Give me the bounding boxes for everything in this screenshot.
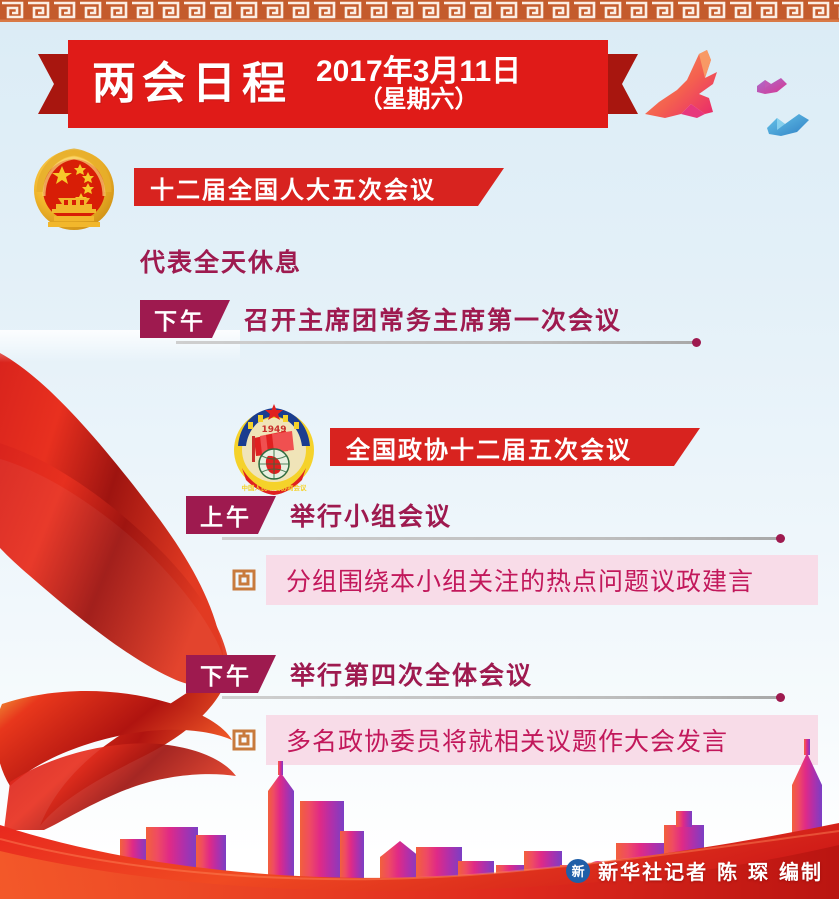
header-date: 2017年3月11日 <box>316 56 521 88</box>
schedule-row-npc-afternoon: 下午 召开主席团常务主席第一次会议 <box>140 300 700 340</box>
meander-pattern-icon <box>0 0 839 22</box>
bird-medium-blue-icon <box>767 114 809 136</box>
row-rule-dot-npc <box>692 338 701 347</box>
npc-note-rest: 代表全天休息 <box>140 243 302 279</box>
schedule-text-cppcc-afternoon: 举行第四次全体会议 <box>290 656 533 692</box>
row-rule-dot-cppcc-afternoon <box>776 693 785 702</box>
credit-line: 新 新华社记者 陈 琛 编制 <box>566 856 823 885</box>
header-date-block: 2017年3月11日 （星期六） <box>316 56 521 113</box>
row-rule-dot-cppcc-morning <box>776 534 785 543</box>
detail-box-cppcc-morning: 分组围绕本小组关注的热点问题议政建言 <box>266 555 818 605</box>
bird-large-orange-icon <box>645 50 717 118</box>
section-banner-npc: 十二届全国人大五次会议 <box>134 168 504 206</box>
bird-small-purple-icon <box>757 78 787 94</box>
xinhua-logo-icon: 新 <box>566 859 590 883</box>
national-emblem-icon <box>28 142 120 246</box>
birds-decoration <box>625 42 839 152</box>
xinhua-logo-text: 新 <box>572 861 585 880</box>
time-tag-afternoon-npc: 下午 <box>140 300 230 338</box>
cppcc-emblem-icon: 1949 中国人民政治协商会议 <box>228 398 320 502</box>
section-banner-cppcc-label: 全国政协十二届五次会议 <box>346 430 632 465</box>
row-rule-cppcc-afternoon <box>222 696 780 699</box>
svg-text:中国人民政治协商会议: 中国人民政治协商会议 <box>242 483 308 492</box>
detail-marker-icon <box>231 567 257 593</box>
page-title: 两会日程 <box>92 62 292 106</box>
schedule-text-npc-afternoon: 召开主席团常务主席第一次会议 <box>244 301 622 337</box>
schedule-row-cppcc-morning: 上午 举行小组会议 <box>186 496 746 536</box>
header-weekday: （星期六） <box>316 87 521 112</box>
time-tag-label: 下午 <box>154 302 216 336</box>
time-tag-afternoon-cppcc: 下午 <box>186 655 276 693</box>
schedule-row-cppcc-afternoon: 下午 举行第四次全体会议 <box>186 655 746 695</box>
header-ribbon: 两会日程 2017年3月11日 （星期六） <box>38 40 638 130</box>
detail-text-cppcc-morning: 分组围绕本小组关注的热点问题议政建言 <box>286 562 754 598</box>
section-banner-cppcc: 全国政协十二届五次会议 <box>330 428 700 466</box>
time-tag-morning-cppcc: 上午 <box>186 496 276 534</box>
top-meander-border <box>0 0 839 22</box>
infographic-poster: 两会日程 2017年3月11日 （星期六） <box>0 0 839 899</box>
section-banner-npc-label: 十二届全国人大五次会议 <box>150 170 436 205</box>
time-tag-label: 上午 <box>200 498 262 532</box>
row-rule-cppcc-morning <box>222 537 780 540</box>
schedule-text-cppcc-morning: 举行小组会议 <box>290 497 452 533</box>
row-rule-npc <box>176 341 696 344</box>
credit-text: 新华社记者 陈 琛 编制 <box>598 856 823 885</box>
time-tag-label: 下午 <box>200 657 262 691</box>
ribbon-main: 两会日程 2017年3月11日 （星期六） <box>68 40 608 128</box>
